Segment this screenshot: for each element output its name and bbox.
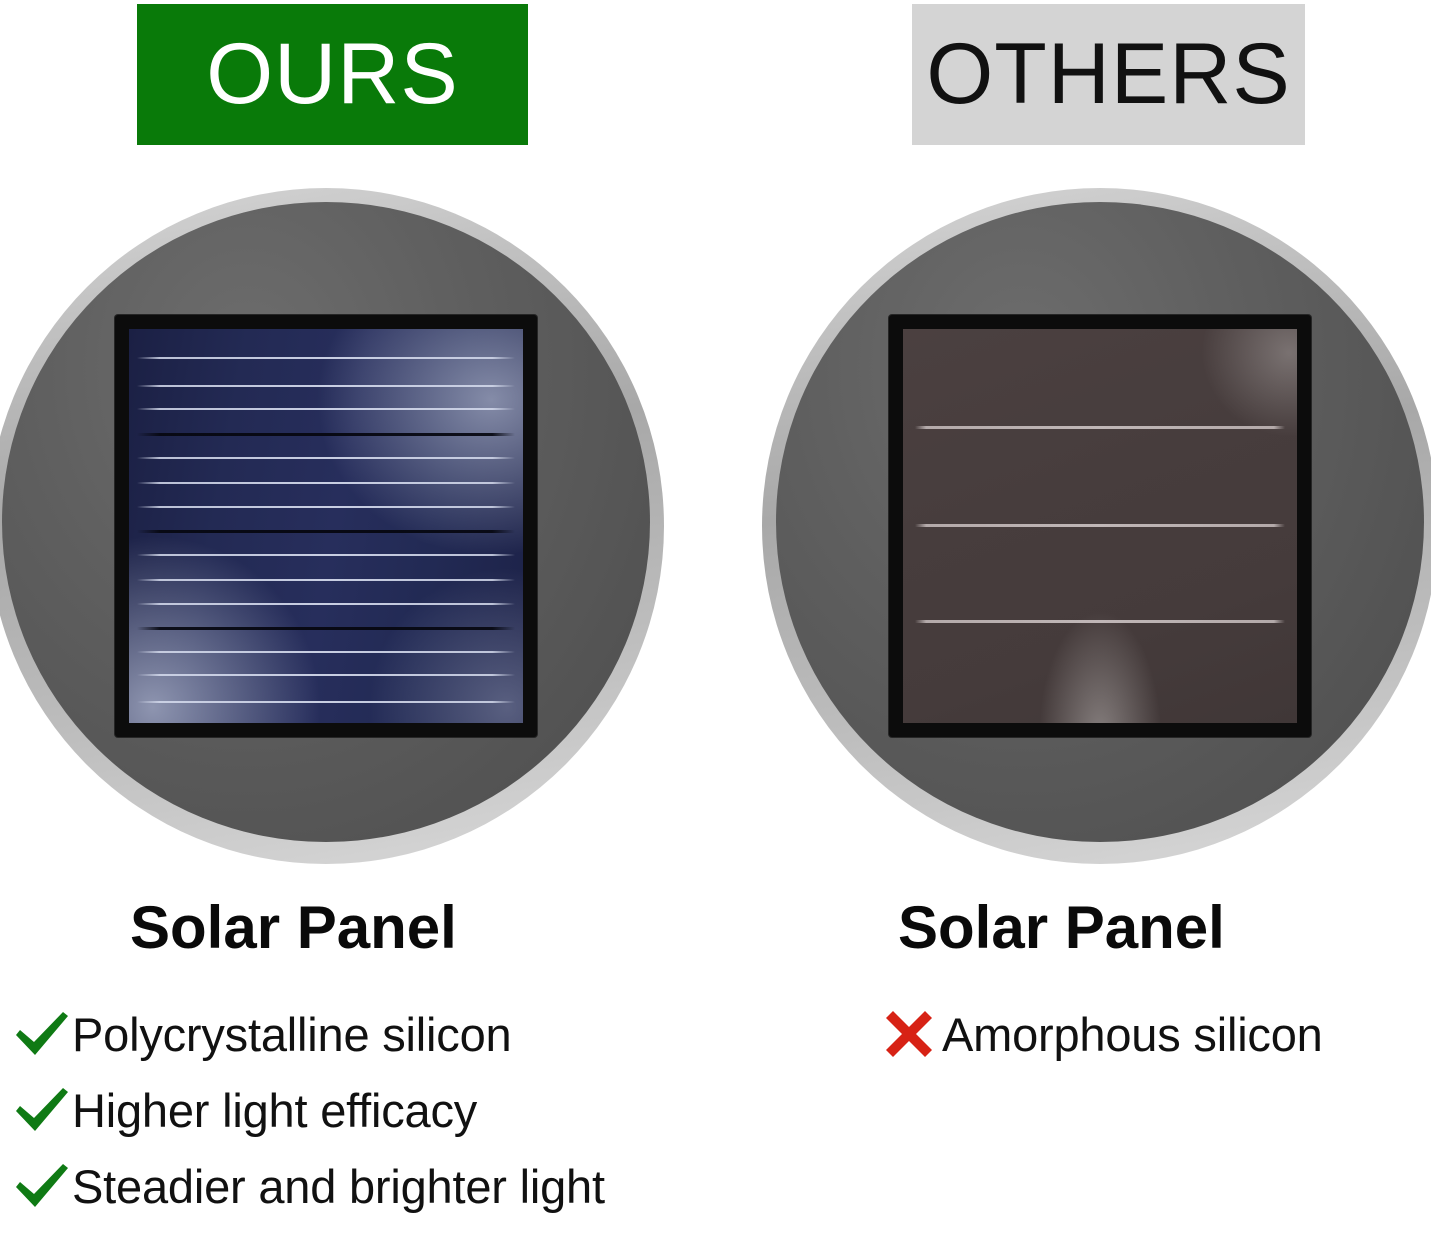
busbar-line — [137, 357, 515, 359]
solar-panel-inner — [903, 329, 1297, 723]
feature-list-ours: Polycrystalline silicon Higher light eff… — [14, 996, 605, 1224]
busbar-line — [137, 554, 515, 556]
list-item: Amorphous silicon — [884, 996, 1323, 1072]
busbar-line — [915, 620, 1285, 623]
solar-panel-inner — [129, 329, 523, 723]
list-item-label: Steadier and brighter light — [72, 1159, 605, 1214]
check-icon — [14, 1010, 72, 1058]
list-item-label: Higher light efficacy — [72, 1083, 477, 1138]
badge-ours: OURS — [137, 4, 528, 145]
polycrystalline-cell-surface — [129, 329, 523, 723]
busbar-line — [137, 408, 515, 410]
list-item: Higher light efficacy — [14, 1072, 605, 1148]
busbar-line-dark — [137, 627, 515, 630]
busbar-line — [137, 579, 515, 581]
cross-icon — [884, 1009, 942, 1059]
badge-others: OTHERS — [912, 4, 1305, 145]
list-item-label: Amorphous silicon — [942, 1007, 1323, 1062]
busbar-line — [137, 385, 515, 387]
busbar-line — [137, 482, 515, 484]
solar-light-disc-ours — [0, 188, 664, 864]
busbar-line — [137, 651, 515, 653]
busbar-line — [137, 701, 515, 703]
feature-list-others: Amorphous silicon — [884, 996, 1323, 1072]
solar-panel-others — [889, 315, 1311, 737]
busbar-line — [137, 674, 515, 676]
caption-solar-panel-others: Solar Panel — [898, 893, 1225, 962]
busbar-line — [915, 524, 1285, 527]
list-item: Steadier and brighter light — [14, 1148, 605, 1224]
busbar-line — [915, 426, 1285, 429]
list-item: Polycrystalline silicon — [14, 996, 605, 1072]
caption-solar-panel-ours: Solar Panel — [130, 893, 457, 962]
busbar-line-dark — [137, 530, 515, 533]
solar-panel-ours — [115, 315, 537, 737]
busbar-line-dark — [137, 433, 515, 436]
list-item-label: Polycrystalline silicon — [72, 1007, 511, 1062]
check-icon — [14, 1086, 72, 1134]
busbar-line — [137, 603, 515, 605]
check-icon — [14, 1162, 72, 1210]
busbar-line — [137, 506, 515, 508]
busbar-line — [137, 457, 515, 459]
solar-light-disc-others — [762, 188, 1431, 864]
